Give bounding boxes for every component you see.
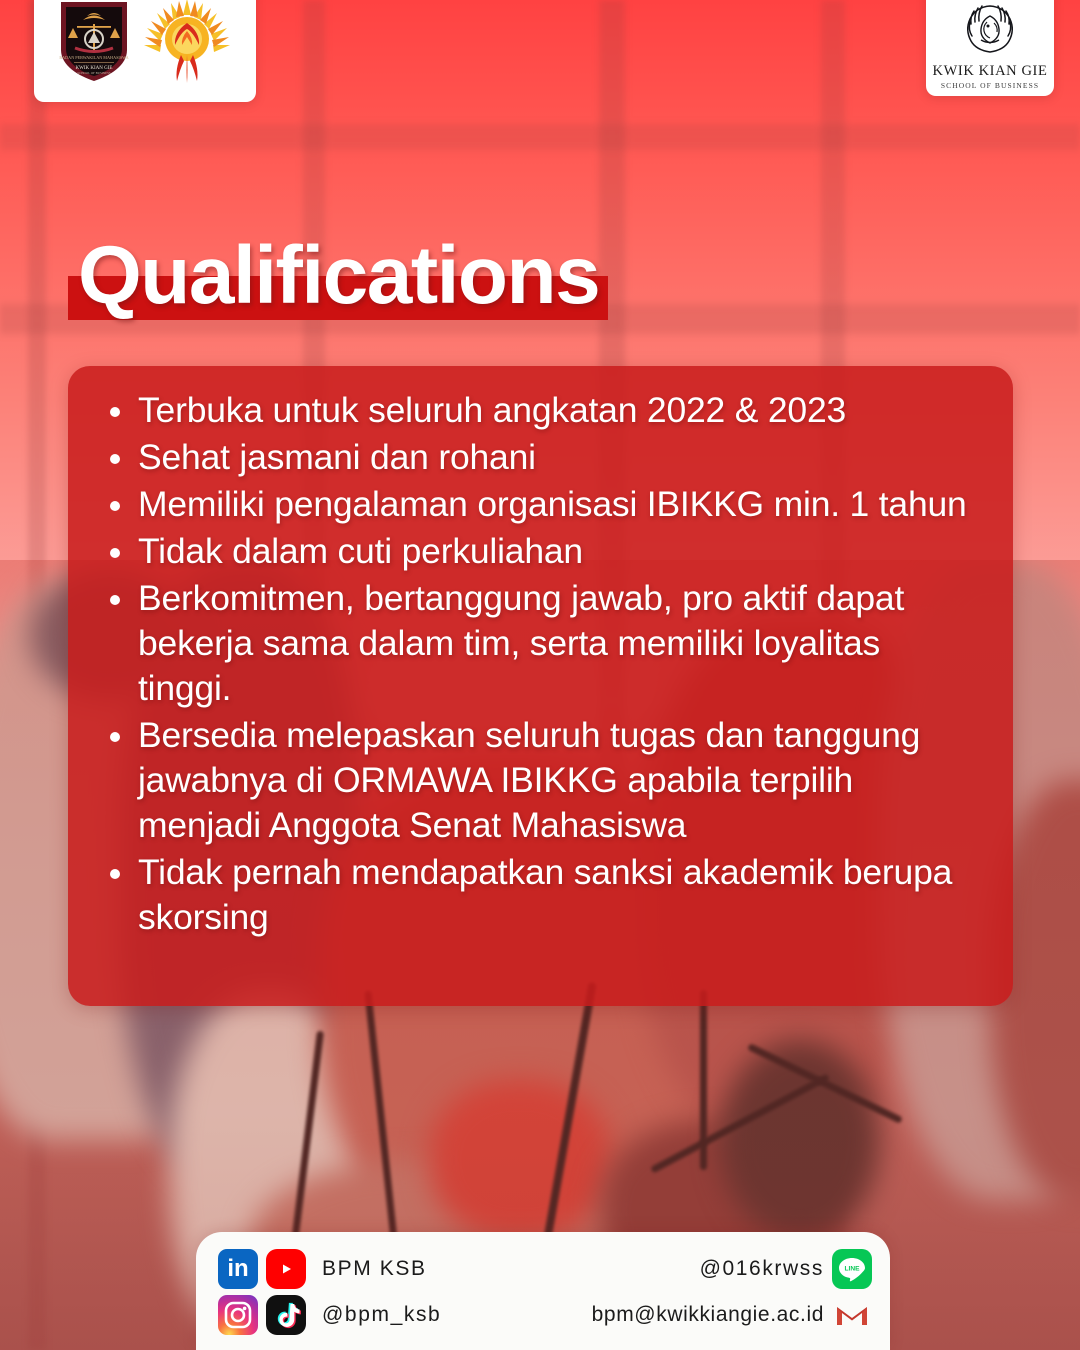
contact-footer-card: in BPM KSB @016krwss LINE bbox=[196, 1232, 890, 1350]
university-subtitle: SCHOOL OF BUSINESS bbox=[941, 81, 1039, 90]
social-handle-primary[interactable]: BPM KSB bbox=[322, 1257, 427, 1281]
organization-logo-plate: BADAN PERWAKILAN MAHASISWA KWIK KIAN GIE… bbox=[34, 0, 256, 102]
university-logo-plate: KWIK KIAN GIE SCHOOL OF BUSINESS bbox=[926, 0, 1054, 96]
svg-text:LINE: LINE bbox=[844, 1266, 860, 1273]
social-icon-group-secondary bbox=[218, 1295, 306, 1335]
svg-text:SCHOOL OF BUSINESS: SCHOOL OF BUSINESS bbox=[77, 71, 111, 75]
email-address[interactable]: bpm@kwikkiangie.ac.id bbox=[592, 1303, 824, 1327]
university-name: KWIK KIAN GIE bbox=[933, 63, 1048, 80]
contact-row-primary: in BPM KSB @016krwss LINE bbox=[218, 1246, 872, 1292]
instagram-icon[interactable] bbox=[218, 1295, 258, 1335]
page-title: Qualifications bbox=[68, 228, 599, 324]
list-item: Tidak dalam cuti perkuliahan bbox=[96, 529, 979, 574]
linkedin-icon[interactable]: in bbox=[218, 1249, 258, 1289]
tiktok-icon[interactable] bbox=[266, 1295, 306, 1335]
list-item: Memiliki pengalaman organisasi IBIKKG mi… bbox=[96, 482, 979, 527]
list-item: Terbuka untuk seluruh angkatan 2022 & 20… bbox=[96, 388, 979, 433]
phoenix-sun-emblem-icon bbox=[141, 0, 233, 90]
email-contact-group: bpm@kwikkiangie.ac.id bbox=[576, 1295, 872, 1335]
list-item: Berkomitmen, bertanggung jawab, pro akti… bbox=[96, 576, 979, 711]
social-handle-secondary[interactable]: @bpm_ksb bbox=[322, 1303, 441, 1327]
qualifications-card: Terbuka untuk seluruh angkatan 2022 & 20… bbox=[68, 366, 1013, 1006]
youtube-icon[interactable] bbox=[266, 1249, 306, 1289]
line-icon[interactable]: LINE bbox=[832, 1249, 872, 1289]
list-item: Tidak pernah mendapatkan sanksi akademik… bbox=[96, 850, 979, 940]
list-item: Bersedia melepaskan seluruh tugas dan ta… bbox=[96, 713, 979, 848]
svg-text:BADAN PERWAKILAN MAHASISWA: BADAN PERWAKILAN MAHASISWA bbox=[59, 55, 128, 60]
line-contact-group: @016krwss LINE bbox=[684, 1249, 872, 1289]
gmail-icon[interactable] bbox=[832, 1295, 872, 1335]
list-item: Sehat jasmani dan rohani bbox=[96, 435, 979, 480]
social-icon-group-primary: in bbox=[218, 1249, 306, 1289]
qualifications-list: Terbuka untuk seluruh angkatan 2022 & 20… bbox=[96, 388, 979, 940]
line-handle[interactable]: @016krwss bbox=[700, 1257, 824, 1281]
bpm-shield-emblem-icon: BADAN PERWAKILAN MAHASISWA KWIK KIAN GIE… bbox=[57, 0, 131, 89]
contact-row-secondary: @bpm_ksb bpm@kwikkiangie.ac.id bbox=[218, 1292, 872, 1338]
poster-canvas: BADAN PERWAKILAN MAHASISWA KWIK KIAN GIE… bbox=[0, 0, 1080, 1350]
page-title-block: Qualifications bbox=[68, 228, 599, 324]
kwik-kian-gie-crest-icon bbox=[961, 2, 1019, 61]
